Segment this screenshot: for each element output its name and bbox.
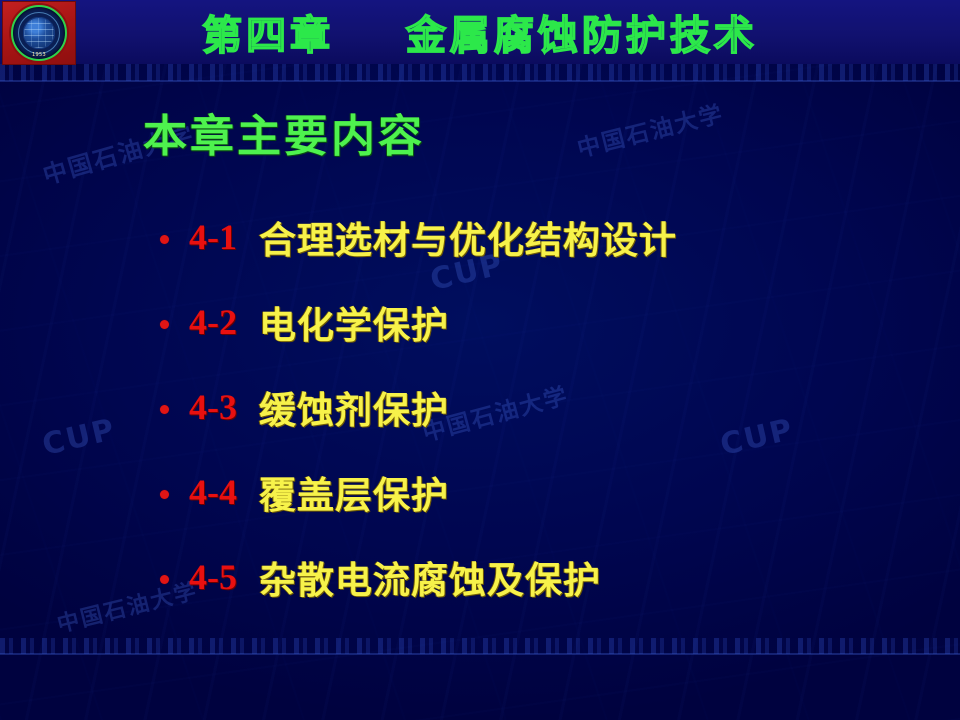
item-number: 4-4 bbox=[189, 471, 237, 513]
logo-globe-icon bbox=[24, 18, 54, 48]
list-item[interactable]: 4-5 杂散电流腐蚀及保护 bbox=[160, 550, 601, 604]
item-label: 电化学保护 bbox=[259, 295, 449, 349]
item-number: 4-2 bbox=[189, 301, 237, 343]
watermark-word: CUP bbox=[717, 412, 797, 463]
watermark-word: 中国石油大学 bbox=[573, 94, 727, 163]
bullet-dot-icon bbox=[160, 235, 169, 244]
list-item[interactable]: 4-4 覆盖层保护 bbox=[160, 465, 449, 519]
logo-emblem-ring: 1953 bbox=[11, 5, 67, 61]
item-number: 4-1 bbox=[189, 216, 237, 258]
item-number: 4-5 bbox=[189, 556, 237, 598]
item-label: 覆盖层保护 bbox=[259, 465, 449, 519]
list-item[interactable]: 4-3 缓蚀剂保护 bbox=[160, 380, 449, 434]
watermark-word: CUP bbox=[39, 412, 119, 463]
bullet-dot-icon bbox=[160, 405, 169, 414]
item-label: 缓蚀剂保护 bbox=[259, 380, 449, 434]
slide-footer: 上页 下页 返回 回主目录 2020/6/30 142 ✦ bbox=[0, 650, 960, 720]
presentation-slide: 中国石油大学 中国石油大学 CUP CUP 中国石油大学 CUP 中国石油大学 … bbox=[0, 0, 960, 720]
section-heading: 本章主要内容 bbox=[143, 100, 425, 164]
bullet-dot-icon bbox=[160, 490, 169, 499]
item-number: 4-3 bbox=[189, 386, 237, 428]
list-item[interactable]: 4-1 合理选材与优化结构设计 bbox=[160, 210, 677, 264]
university-logo: 1953 bbox=[2, 1, 76, 65]
bullet-dot-icon bbox=[160, 575, 169, 584]
decorative-text-band-top bbox=[0, 64, 960, 81]
band-edge-top bbox=[0, 80, 960, 82]
logo-year: 1953 bbox=[13, 52, 65, 58]
chapter-title: 第四章 金属腐蚀防护技术 bbox=[0, 0, 960, 64]
list-item[interactable]: 4-2 电化学保护 bbox=[160, 295, 449, 349]
item-label: 杂散电流腐蚀及保护 bbox=[259, 550, 601, 604]
bullet-dot-icon bbox=[160, 320, 169, 329]
item-label: 合理选材与优化结构设计 bbox=[259, 210, 677, 264]
